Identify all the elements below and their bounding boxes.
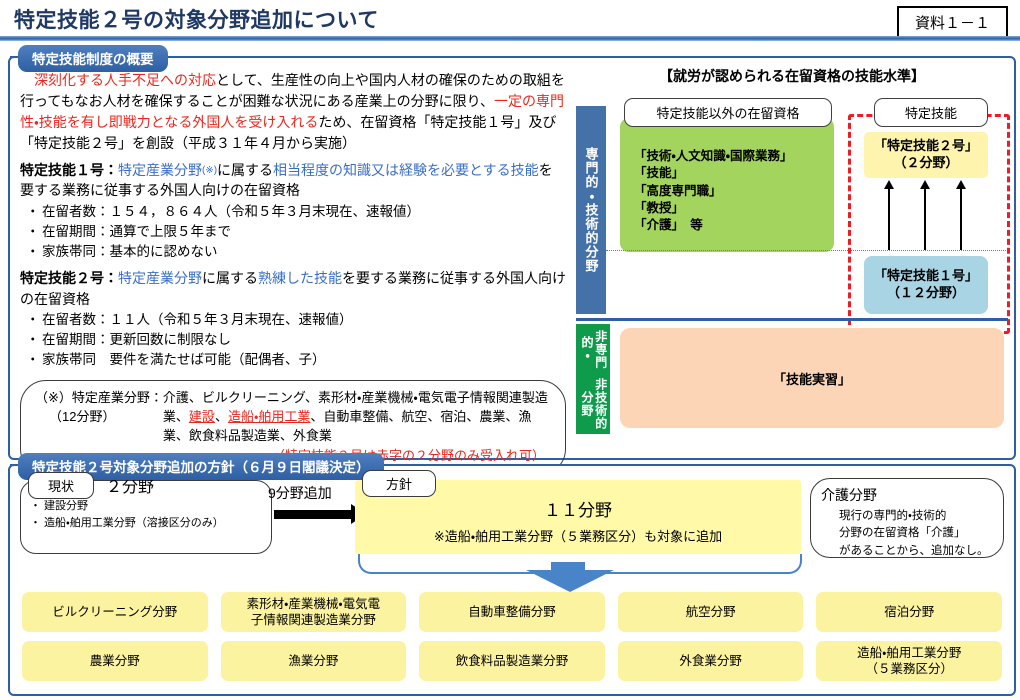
note-label: （※）特定産業分野： （12分野） [35, 388, 163, 446]
list-item: 建設分野 [24, 498, 224, 515]
field-label: 飲食料品製造業分野 [456, 653, 569, 669]
list-item: 在留期間：通算で上限５年まで [20, 222, 566, 242]
intro-highlight-1: 深刻化する人手不足への対応 [34, 72, 216, 88]
type2-def-c: 熟練した技能 [258, 270, 342, 286]
type1-def-c: 相当程度の知識又は経験を必要とする技能 [273, 162, 539, 178]
list-item: 「技能」 [634, 165, 834, 182]
type2-label: 特定技能２号： [20, 270, 118, 286]
type1-label: 特定技能１号： [20, 162, 118, 178]
list-item: 「教授」 [634, 200, 834, 217]
document-number-badge: 資料１－１ [897, 6, 1008, 39]
care-field-box: 介護分野 現行の専門的・技術的 分野の在留資格「介護」 があることから、追加なし… [810, 478, 1004, 558]
note-text-b: 、 [215, 409, 228, 424]
section-overview-tab: 特定技能制度の概要 [18, 45, 168, 72]
list-item: 在留期間：更新回数に制限なし [20, 330, 566, 350]
ssw-type2-line2: （２分野） [893, 155, 958, 172]
care-body-line2: 分野の在留資格「介護」 [839, 525, 993, 542]
field-label: 漁業分野 [288, 653, 338, 669]
title-divider [0, 36, 1020, 41]
transition-label: 9分野追加 [268, 483, 332, 503]
field-label: 農業分野 [90, 653, 140, 669]
note-label-line1: （※）特定産業分野： [35, 390, 163, 405]
type1-def-a: 特定産業分野 [118, 162, 202, 178]
field-box: 飲食料品製造業分野 [419, 641, 605, 681]
list-item: 家族帯同：基本的に認めない [20, 242, 566, 262]
field-label: 宿泊分野 [884, 604, 934, 620]
field-box: 宿泊分野 [816, 592, 1002, 632]
type1-heading: 特定技能１号：特定産業分野(※)に属する相当程度の知識又は経験を必要とする技能を… [20, 160, 566, 201]
ssw-type2-line1: 「特定技能２号」 [874, 138, 978, 155]
transition-arrow-icon [274, 510, 352, 519]
field-label: 造船・舶用工業分野 [857, 645, 961, 661]
page-title: 特定技能２号の対象分野追加について [14, 4, 379, 34]
technical-intern-box: 「技能実習」 [620, 328, 1004, 428]
ssw-type2-box: 「特定技能２号」 （２分野） [864, 132, 988, 178]
list-item: 造船・舶用工業分野（溶接区分のみ） [24, 515, 224, 532]
skill-level-diagram: 【就労が認められる在留資格の技能水準】 専門的・技術的分野 非専門的・非技術的分… [576, 66, 1008, 444]
diagram-section-divider [576, 318, 1008, 321]
policy-note: ※造船・舶用工業分野（５業務区分）も対象に追加 [355, 526, 801, 545]
note-red-kensetsu: 建設 [189, 409, 215, 424]
field-box: ビルクリーニング分野 [22, 592, 208, 632]
type1-group: 特定技能１号：特定産業分野(※)に属する相当程度の知識又は経験を必要とする技能を… [20, 160, 566, 262]
field-label: 航空分野 [686, 604, 736, 620]
care-field-title: 介護分野 [821, 485, 993, 505]
type1-bullets: 在留者数：１５４，８６４人（令和５年３月末現在、速報値） 在留期間：通算で上限５… [20, 202, 566, 263]
type2-bullets: 在留者数：１１人（令和５年３月末現在、速報値） 在留期間：更新回数に制限なし 家… [20, 310, 566, 371]
vbar-green-line1: 非専門的・ [579, 324, 607, 374]
list-item: 「介護」 等 [634, 217, 834, 234]
field-box: 農業分野 [22, 641, 208, 681]
type1-def-mark: (※) [202, 165, 217, 176]
care-body-line3: があることから、追加なし。 [839, 543, 993, 560]
policy-pill: 方針 [362, 470, 436, 497]
upgrade-arrow-icon [888, 188, 890, 250]
field-label: 素形材・産業機械・電気電 [247, 596, 381, 612]
ssw-type1-line2: （１２分野） [887, 285, 965, 302]
field-label: 自動車整備分野 [468, 604, 556, 620]
field-box: 自動車整備分野 [419, 592, 605, 632]
list-item: 「技術・人文知識・国際業務」 [634, 148, 834, 165]
field-box: 漁業分野 [221, 641, 407, 681]
type1-def-b: に属する [217, 162, 273, 178]
list-item: 家族帯同 要件を満たせば可能（配偶者、子） [20, 350, 566, 370]
capsule-specified-skilled: 特定技能 [874, 98, 988, 127]
vertical-label-nonprofessional: 非専門的・非技術的分野 [576, 324, 610, 434]
care-field-body: 現行の専門的・技術的 分野の在留資格「介護」 があることから、追加なし。 [821, 508, 993, 560]
type2-heading: 特定技能２号：特定産業分野に属する熟練した技能を要する業務に従事する外国人向けの… [20, 268, 566, 309]
current-field-list: 建設分野 造船・舶用工業分野（溶接区分のみ） [24, 498, 224, 532]
list-item: 在留者数：１１人（令和５年３月末現在、速報値） [20, 310, 566, 330]
list-item: 「高度専門職」 [634, 183, 834, 200]
field-label: 外食業分野 [679, 653, 742, 669]
vertical-label-professional: 専門的・技術的分野 [576, 106, 606, 314]
capsule-other-status: 特定技能以外の在留資格 [624, 98, 832, 127]
note-row: （※）特定産業分野： （12分野） 介護、ビルクリーニング、素形材・産業機械・電… [35, 388, 551, 446]
slide-page: 特定技能２号の対象分野追加について 資料１－１ 特定技能制度の概要 深刻化する人… [0, 0, 1020, 700]
note-body: 介護、ビルクリーニング、素形材・産業機械・電気電子情報関連製造業、建設、造船・舶… [163, 388, 551, 446]
intro-paragraph: 深刻化する人手不足への対応として、生産性の向上や国内人材の確保のための取組を行っ… [20, 70, 566, 154]
policy-field-count: １１分野 [355, 496, 801, 521]
other-status-list: 「技術・人文知識・国際業務」 「技能」 「高度専門職」 「教授」 「介護」 等 [620, 118, 834, 252]
field-box: 素形材・産業機械・電気電子情報関連製造業分野 [221, 592, 407, 632]
overview-text-column: 深刻化する人手不足への対応として、生産性の向上や国内人材の確保のための取組を行っ… [20, 70, 566, 475]
list-item: 在留者数：１５４，８６４人（令和５年３月末現在、速報値） [20, 202, 566, 222]
field-label: ビルクリーニング分野 [52, 604, 177, 620]
ssw-type1-line1: 「特定技能１号」 [874, 268, 978, 285]
down-arrow-icon [526, 570, 614, 592]
upgrade-arrow-icon [960, 188, 962, 250]
field-grid: ビルクリーニング分野 素形材・産業機械・電気電子情報関連製造業分野 自動車整備分… [22, 592, 1002, 681]
field-box: 航空分野 [618, 592, 804, 632]
vbar-green-line2: 非技術的分野 [579, 374, 607, 434]
upgrade-arrow-icon [924, 188, 926, 250]
field-label-2: （５業務区分） [865, 661, 953, 677]
current-state-pill: 現状 [28, 472, 94, 499]
section-policy: 特定技能２号対象分野追加の方針（６月９日閣議決定） 現状 ２分野 建設分野 造船… [8, 464, 1016, 696]
diagram-title: 【就労が認められる在留資格の技能水準】 [576, 66, 1008, 86]
type2-def-b: に属する [202, 270, 258, 286]
ssw-type1-box: 「特定技能１号」 （１２分野） [864, 256, 988, 314]
section-overview: 特定技能制度の概要 深刻化する人手不足への対応として、生産性の向上や国内人材の確… [8, 56, 1016, 460]
care-body-line1: 現行の専門的・技術的 [839, 508, 993, 525]
type2-def-a: 特定産業分野 [118, 270, 202, 286]
type2-group: 特定技能２号：特定産業分野に属する熟練した技能を要する業務に従事する外国人向けの… [20, 268, 566, 370]
note-red-zosen: 造船・舶用工業 [228, 409, 310, 424]
field-label-2: 子情報関連製造業分野 [251, 612, 376, 628]
note-label-line2: （12分野） [35, 407, 163, 426]
field-box: 外食業分野 [618, 641, 804, 681]
field-box: 造船・舶用工業分野（５業務区分） [816, 641, 1002, 681]
